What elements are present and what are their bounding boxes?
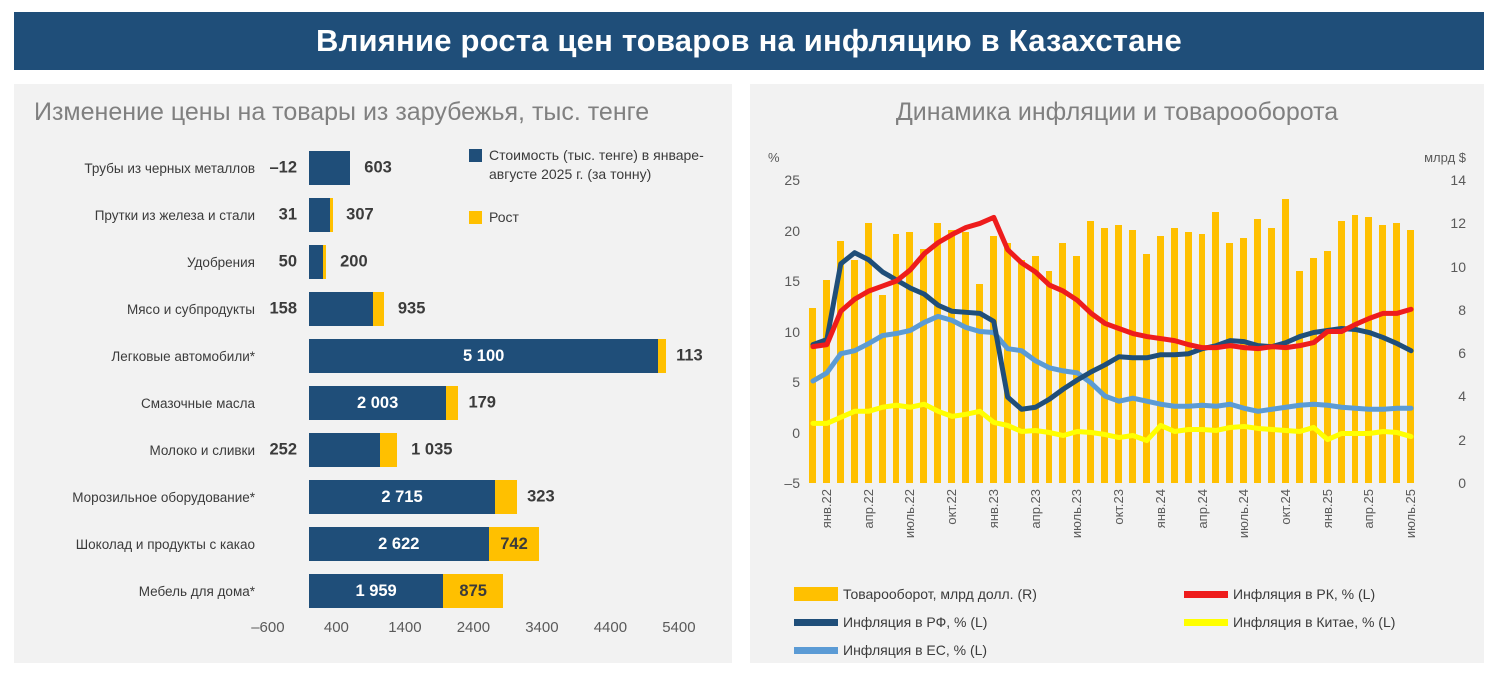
bar-segment-cost [309,433,380,467]
combo-x-tick: апр.24 [1195,489,1210,529]
bar-category-label: Мебель для дома* [25,584,255,599]
combo-x-tick: окт.22 [944,489,959,525]
combo-legend-item: Товарооборот, млрд долл. (R) [794,586,1037,602]
combo-legend-item: Инфляция в РК, % (L) [1184,586,1375,602]
bar-category-label: Шоколад и продукты с какао [25,537,255,552]
bar-segment-growth [495,480,517,514]
combo-legend-item: Инфляция в Китае, % (L) [1184,614,1395,630]
bar-growth-value: –12 [269,159,297,178]
bar-segment-cost: 2 003 [309,386,446,420]
combo-x-tick: апр.23 [1028,489,1043,529]
bar-x-tick: 2400 [457,619,490,636]
bar-category-label: Прутки из железа и стали [25,208,255,223]
bar-row: Легковые автомобили*5 100113 [14,336,732,376]
bar-row: Морозильное оборудование*2 715323 [14,477,732,517]
bar-segment-cost: 1 959 [309,574,443,608]
combo-legend-label: Инфляция в РК, % (L) [1233,586,1375,602]
left-y-tick: 10 [768,324,800,340]
left-y-tick: –5 [768,475,800,491]
header-banner: Влияние роста цен товаров на инфляцию в … [14,12,1484,70]
bar-segment-growth [380,433,397,467]
bar-segment-growth [373,292,384,326]
bar-cost-value: 1 035 [411,441,452,460]
bar-legend-item: Стоимость (тыс. тенге) в январе-августе … [469,146,734,184]
bar-segment-cost: 2 715 [309,480,495,514]
bar-row: Мясо и субпродукты158935 [14,289,732,329]
bar-segment-cost [309,245,323,279]
left-chart-panel: Изменение цены на товары из зарубежья, т… [14,84,732,663]
right-y-tick: 4 [1434,388,1466,404]
combo-x-tick: июль.25 [1403,489,1418,538]
combo-x-tick: июль.23 [1069,489,1084,538]
bar-cost-value: 5 100 [463,347,504,366]
combo-x-tick: июль.22 [902,489,917,538]
right-y-tick: 14 [1434,172,1466,188]
combo-x-tick: янв.22 [819,489,834,528]
legend-swatch-icon [469,211,482,224]
bar-segment-growth: 875 [443,574,503,608]
bar-growth-value: 158 [269,300,297,319]
left-y-tick: 20 [768,223,800,239]
left-y-tick: 25 [768,172,800,188]
combo-legend-label: Инфляция в ЕС, % (L) [843,642,987,658]
bar-x-tick: –600 [251,619,284,636]
combo-x-tick: янв.23 [986,489,1001,528]
right-y-tick: 12 [1434,215,1466,231]
combo-chart-plot [806,180,1418,483]
bar-growth-value: 179 [468,394,496,413]
bar-segment-cost: 2 622 [309,527,489,561]
bar-segment-growth: 742 [489,527,540,561]
bar-growth-value: 323 [527,488,555,507]
bar-category-label: Удобрения [25,255,255,270]
bar-category-label: Смазочные масла [25,396,255,411]
bar-legend-label: Рост [489,208,519,227]
legend-line-icon [794,647,838,654]
bar-category-label: Морозильное оборудование* [25,490,255,505]
bar-growth-value: 31 [279,206,297,225]
bar-x-tick: 1400 [388,619,421,636]
bar-row: Мебель для дома*1 959875 [14,571,732,611]
inflation-line [813,404,1411,440]
bar-category-label: Легковые автомобили* [25,349,255,364]
bar-cost-value: 603 [364,159,392,178]
combo-x-tick: окт.24 [1278,489,1293,525]
right-y-tick: 2 [1434,432,1466,448]
left-chart-title: Изменение цены на товары из зарубежья, т… [34,98,649,127]
bar-category-label: Мясо и субпродукты [25,302,255,317]
bar-category-label: Молоко и сливки [25,443,255,458]
legend-line-icon [1184,591,1228,598]
bar-cost-value: 200 [340,253,368,272]
bar-growth-value: 252 [269,441,297,460]
page-title: Влияние роста цен товаров на инфляцию в … [316,23,1182,59]
combo-legend-label: Товарооборот, млрд долл. (R) [843,586,1037,602]
bar-chart-legend: Стоимость (тыс. тенге) в январе-августе … [469,146,734,251]
combo-x-tick: окт.23 [1111,489,1126,525]
combo-x-tick: апр.22 [861,489,876,529]
bar-x-tick: 4400 [594,619,627,636]
bar-cost-value: 307 [346,206,374,225]
bar-row: Молоко и сливки2521 035 [14,430,732,470]
bar-category-label: Трубы из черных металлов [25,161,255,176]
right-y-tick: 10 [1434,259,1466,275]
legend-line-icon [794,619,838,626]
left-y-tick: 0 [768,425,800,441]
combo-x-tick: янв.24 [1153,489,1168,528]
bar-segment-cost [309,292,373,326]
bar-cost-value: 935 [398,300,426,319]
bar-cost-value: 2 003 [357,394,398,413]
bar-legend-item: Рост [469,208,734,227]
bar-segment-growth [323,245,326,279]
combo-legend-item: Инфляция в РФ, % (L) [794,614,987,630]
bar-x-tick: 400 [324,619,349,636]
combo-x-tick: июль.24 [1236,489,1251,538]
bar-cost-value: 2 622 [378,535,419,554]
legend-swatch-icon [794,587,838,601]
right-y-tick: 0 [1434,475,1466,491]
combo-legend-item: Инфляция в ЕС, % (L) [794,642,987,658]
bar-x-tick: 3400 [525,619,558,636]
bar-growth-value: 50 [279,253,297,272]
bar-x-tick: 5400 [662,619,695,636]
bar-segment-cost [309,151,350,185]
combo-x-tick: янв.25 [1320,489,1335,528]
infographic-page: Влияние роста цен товаров на инфляцию в … [0,0,1498,675]
right-y-tick: 6 [1434,345,1466,361]
combo-legend-label: Инфляция в Китае, % (L) [1233,614,1395,630]
legend-line-icon [1184,619,1228,626]
combo-legend-label: Инфляция в РФ, % (L) [843,614,987,630]
left-y-tick: 15 [768,273,800,289]
left-y-tick: 5 [768,374,800,390]
right-axis-unit: млрд $ [1424,150,1466,165]
bar-growth-value: 875 [459,582,487,601]
inflation-lines [806,180,1418,483]
bar-segment-growth [330,198,333,232]
left-axis-unit: % [768,150,780,165]
right-chart-title: Динамика инфляции и товарооборота [750,98,1484,127]
bar-cost-value: 2 715 [381,488,422,507]
combo-x-tick: апр.25 [1361,489,1376,529]
right-y-tick: 8 [1434,302,1466,318]
bar-row: Смазочные масла2 003179 [14,383,732,423]
bar-segment-growth [446,386,458,420]
bar-chart-x-axis: –60040014002400340044005400 [14,619,732,649]
right-chart-panel: Динамика инфляции и товарооборота % млрд… [750,84,1484,663]
bar-segment-cost [309,198,330,232]
bar-growth-value: 742 [500,535,528,554]
bar-legend-label: Стоимость (тыс. тенге) в январе-августе … [489,146,734,184]
bar-cost-value: 1 959 [355,582,396,601]
bar-row: Шоколад и продукты с какао2 622742 [14,524,732,564]
legend-swatch-icon [469,149,482,162]
bar-growth-value: 113 [676,347,703,366]
bar-segment-growth [658,339,666,373]
bar-segment-cost: 5 100 [309,339,658,373]
